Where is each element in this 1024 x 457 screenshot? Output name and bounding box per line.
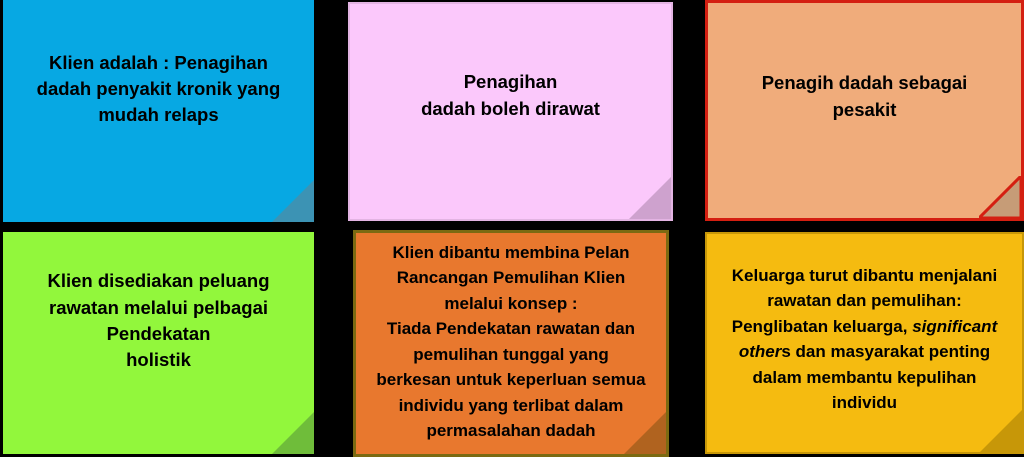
folded-corner-icon: [272, 180, 314, 222]
note-text: Penagih dadah sebagai pesakit: [748, 70, 982, 123]
note-text: Klien disediakan peluang rawatan melalui…: [33, 268, 283, 373]
note-card-penagih-dadah-sebagai-pesakit[interactable]: Penagih dadah sebagai pesakit: [705, 0, 1024, 221]
note-text: Penagihan dadah boleh dirawat: [407, 69, 614, 122]
folded-corner-icon: [272, 412, 314, 454]
note-text: Keluarga turut dibantu menjalani rawatan…: [718, 263, 1011, 416]
folded-corner-icon: [980, 410, 1022, 452]
note-card-keluarga-turut-dibantu[interactable]: Keluarga turut dibantu menjalani rawatan…: [705, 232, 1024, 454]
note-card-pelan-rancangan-pemulihan[interactable]: Klien dibantu membina Pelan Rancangan Pe…: [353, 230, 669, 457]
folded-corner-icon: [979, 176, 1021, 218]
slide-canvas: Klien adalah : Penagihan dadah penyakit …: [0, 0, 1024, 457]
note-text: Klien adalah : Penagihan dadah penyakit …: [23, 50, 295, 129]
note-text: Klien dibantu membina Pelan Rancangan Pe…: [362, 240, 659, 444]
note-card-klien-adalah-penagihan[interactable]: Klien adalah : Penagihan dadah penyakit …: [3, 0, 314, 222]
note-card-klien-disediakan-peluang[interactable]: Klien disediakan peluang rawatan melalui…: [3, 232, 314, 454]
note-card-penagihan-dadah-boleh-dirawat[interactable]: Penagihan dadah boleh dirawat: [348, 2, 673, 221]
folded-corner-icon: [629, 177, 671, 219]
